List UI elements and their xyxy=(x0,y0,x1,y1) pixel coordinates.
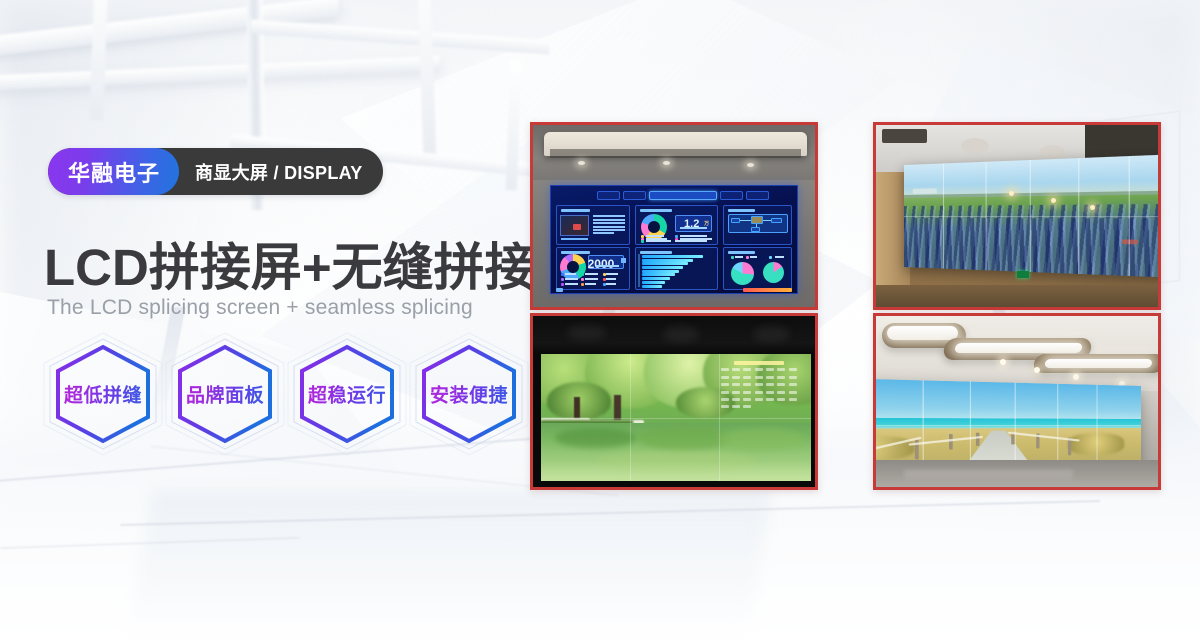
feature-item[interactable]: 品牌面板 xyxy=(166,337,284,451)
video-wall-screen xyxy=(904,154,1158,278)
calendar-overlay xyxy=(719,361,800,414)
feature-item[interactable]: 超稳运行 xyxy=(288,337,406,451)
gallery-photo-lake-video-wall[interactable] xyxy=(530,313,818,490)
brand-pill: 华融电子 商显大屏 / DISPLAY xyxy=(48,148,383,195)
product-banner: 华融电子 商显大屏 / DISPLAY LCD拼接屏+无缝拼接 The LCD … xyxy=(0,0,1200,640)
page-subtitle: The LCD splicing screen + seamless splic… xyxy=(47,296,473,320)
page-title: LCD拼接屏+无缝拼接 xyxy=(44,226,536,300)
exit-sign-icon xyxy=(1017,271,1029,278)
brand-name: 华融电子 xyxy=(48,148,179,195)
feature-label: 超稳运行 xyxy=(288,381,406,408)
feature-list: 超低拼缝 品牌面板 超稳运行 xyxy=(44,337,528,451)
feature-item[interactable]: 安装便捷 xyxy=(410,337,528,451)
feature-label: 品牌面板 xyxy=(166,381,284,408)
feature-item[interactable]: 超低拼缝 xyxy=(44,337,162,451)
feature-label: 安装便捷 xyxy=(410,381,528,408)
dashboard-screen: 1.2 万 xyxy=(550,185,798,294)
brand-category: 商显大屏 / DISPLAY xyxy=(179,148,383,195)
gallery-photo-control-room[interactable]: 1.2 万 xyxy=(530,122,818,310)
product-gallery: 1.2 万 xyxy=(530,122,1162,492)
banner-copy: 华融电子 商显大屏 / DISPLAY LCD拼接屏+无缝拼接 The LCD … xyxy=(44,0,544,640)
gallery-photo-beach-video-wall[interactable] xyxy=(873,313,1161,490)
lake-scene-screen xyxy=(541,354,810,481)
feature-label: 超低拼缝 xyxy=(44,381,162,408)
gallery-photo-solar-video-wall[interactable] xyxy=(873,122,1161,310)
